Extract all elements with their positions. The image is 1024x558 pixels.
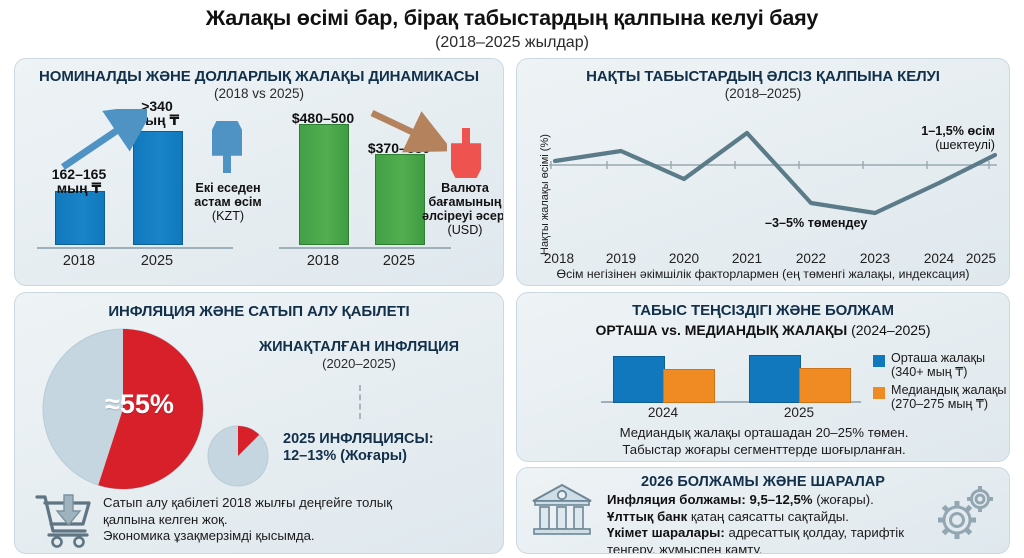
legend-label-median-line2: (270–275 мың ₸) bbox=[891, 397, 988, 411]
bar-median-2024 bbox=[663, 369, 715, 403]
purchasing-power-footnote: Сатып алу қабілеті 2018 жылғы деңгейге т… bbox=[103, 495, 493, 545]
note-kzt-growth: Екі еседен астам өсім (KZT) bbox=[185, 181, 271, 223]
gears-icon bbox=[933, 482, 997, 542]
decline-arrow-diagonal-icon bbox=[367, 107, 447, 153]
cumulative-inflation-period: (2020–2025) bbox=[225, 356, 493, 371]
note-kzt-growth-line2: астам өсім bbox=[194, 195, 262, 209]
legend-label-mean-line2: (340+ мың ₸) bbox=[891, 365, 967, 379]
legend-label-mean: Орташа жалақы (340+ мың ₸) bbox=[891, 351, 1010, 380]
page-subtitle: (2018–2025 жылдар) bbox=[0, 34, 1024, 52]
purchasing-power-footnote-line1: Сатып алу қабілеті 2018 жылғы деңгейге т… bbox=[103, 495, 392, 510]
annotation-limited-growth: 1–1,5% өсім (шектеулі) bbox=[921, 125, 995, 153]
panel-inequality-subtitle: ОРТАША vs. МЕДИАНДЫҚ ЖАЛАҚЫ (2024–2025) bbox=[517, 322, 1009, 338]
legend-swatch-mean bbox=[873, 355, 885, 367]
panel-inequality-subtitle-rest: (2024–2025) bbox=[847, 322, 930, 338]
inflation-2025-text-line2: 12–13% (Жоғары) bbox=[283, 448, 407, 464]
growth-arrow-diagonal-icon bbox=[57, 109, 147, 173]
panel-inflation-purchasing-power: ИНФЛЯЦИЯ ЖӘНЕ САТЫП АЛУ ҚАБІЛЕТІ ≈55% ЖИ… bbox=[14, 292, 504, 554]
nominal-charts-area: 162–165 мың ₸ 2018 >340 мың ₸ 2025 bbox=[15, 59, 503, 285]
kzt-axis-line bbox=[37, 247, 233, 249]
cumulative-inflation-heading: ЖИНАҚТАЛҒАН ИНФЛЯЦИЯ bbox=[225, 339, 493, 355]
inequality-footnote-line2: Табыстар жоғары сегменттерде шоғырланған… bbox=[622, 442, 905, 457]
legend-label-median: Медиандық жалақы (270–275 мың ₸) bbox=[891, 383, 1010, 412]
tick-inequality-2025: 2025 bbox=[771, 405, 827, 420]
note-kzt-growth-line1: Екі еседен bbox=[195, 181, 260, 195]
forecast-line-1: Инфляция болжамы: 9,5–12,5% (жоғары). bbox=[607, 492, 937, 509]
inflation-2025-text-line1: 2025 ИНФЛЯЦИЯСЫ: bbox=[283, 431, 434, 447]
bar-usd-2018-value: $480–500 bbox=[273, 111, 373, 125]
panel-inflation-title: ИНФЛЯЦИЯ ЖӘНЕ САТЫП АЛУ ҚАБІЛЕТІ bbox=[15, 303, 503, 320]
panel-2026-forecast-measures: 2026 БОЛЖАМЫ ЖӘНЕ ШАРАЛАР Инфляция болжа… bbox=[516, 467, 1010, 554]
real-chart-footnote: Өсім негізінен әкімшілік факторлармен (е… bbox=[517, 267, 1009, 281]
note-usd-line4: (USD) bbox=[448, 223, 483, 237]
inflation-2025-text: 2025 ИНФЛЯЦИЯСЫ: 12–13% (Жоғары) bbox=[283, 431, 434, 466]
bar-usd-2025 bbox=[375, 154, 425, 245]
note-usd-line2: бағамының bbox=[428, 195, 501, 209]
forecast-line-4: теңгеру, жұмыспен қамту. bbox=[607, 542, 937, 554]
note-usd-weakening: Валюта бағамының әлсіреуі әсері (USD) bbox=[419, 181, 504, 237]
tick-inequality-2024: 2024 bbox=[635, 405, 691, 420]
note-usd-line1: Валюта bbox=[441, 181, 489, 195]
panel-income-inequality-forecast: ТАБЫС ТЕҢСІЗДІГІ ЖӘНЕ БОЛЖАМ ОРТАША vs. … bbox=[516, 292, 1010, 462]
forecast-line-1-rest: (жоғары). bbox=[813, 492, 874, 507]
tick-real-2021: 2021 bbox=[719, 251, 775, 266]
growth-arrow-up-icon bbox=[212, 121, 242, 177]
tick-real-2019: 2019 bbox=[593, 251, 649, 266]
forecast-line-3-rest: адресаттық қолдау, тарифтік bbox=[725, 525, 904, 540]
bar-usd-2018 bbox=[299, 124, 349, 245]
inequality-footnote-line1: Медиандық жалақы орташадан 20–25% төмен. bbox=[620, 425, 909, 440]
forecast-line-1-strong: Инфляция болжамы: 9,5–12,5% bbox=[607, 492, 813, 507]
legend-label-median-line1: Медиандық жалақы bbox=[891, 383, 1006, 397]
tick-real-2018: 2018 bbox=[531, 251, 587, 266]
panel-real-title: НАҚТЫ ТАБЫСТАРДЫҢ ӘЛСІЗ ҚАЛПЫНА КЕЛУІ bbox=[517, 68, 1009, 85]
bank-building-icon bbox=[531, 482, 593, 540]
purchasing-power-footnote-line2: қалпына келген жоқ. bbox=[103, 512, 228, 527]
panel-real-income-recovery: НАҚТЫ ТАБЫСТАРДЫҢ ӘЛСІЗ ҚАЛПЫНА КЕЛУІ (2… bbox=[516, 58, 1010, 286]
bar-mean-2024 bbox=[613, 356, 665, 403]
bar-median-2025 bbox=[799, 368, 851, 403]
note-usd-line3: әлсіреуі әсері bbox=[422, 209, 504, 223]
infographic-canvas: Жалақы өсімі бар, бірақ табыстардың қалп… bbox=[0, 0, 1024, 558]
usd-axis-line bbox=[279, 247, 451, 249]
inflation-2025-pie-chart bbox=[207, 425, 269, 487]
forecast-body: Инфляция болжамы: 9,5–12,5% (жоғары). Ұл… bbox=[607, 492, 937, 554]
tick-usd-2025: 2025 bbox=[363, 253, 435, 269]
tick-real-2023: 2023 bbox=[847, 251, 903, 266]
annotation-limited-growth-line1: 1–1,5% өсім bbox=[921, 124, 995, 138]
purchasing-power-footnote-line3: Экономика ұзақмерзімді қысымда. bbox=[103, 528, 315, 543]
bar-mean-2025 bbox=[749, 355, 801, 403]
annotation-limited-growth-line2: (шектеулі) bbox=[935, 138, 995, 152]
tick-real-2020: 2020 bbox=[656, 251, 712, 266]
tick-usd-2018: 2018 bbox=[287, 253, 359, 269]
bar-kzt-2018-value-line2: мың ₸ bbox=[57, 180, 101, 196]
tick-real-2022: 2022 bbox=[783, 251, 839, 266]
pie-label-cumulative: ≈55% bbox=[105, 389, 174, 420]
shopping-cart-down-icon bbox=[33, 491, 95, 549]
inequality-footnote: Медиандық жалақы орташадан 20–25% төмен.… bbox=[517, 425, 1010, 458]
panels-grid: НОМИНАЛДЫ ЖӘНЕ ДОЛЛАРЛЫҚ ЖАЛАҚЫ ДИНАМИКА… bbox=[0, 58, 1024, 558]
forecast-line-2-strong: Ұлттық банк bbox=[607, 509, 687, 524]
currency-down-arrow-icon bbox=[451, 124, 481, 178]
tick-kzt-2025: 2025 bbox=[121, 253, 193, 269]
cumulative-inflation-block: ЖИНАҚТАЛҒАН ИНФЛЯЦИЯ (2020–2025) bbox=[225, 339, 493, 371]
legend-swatch-median bbox=[873, 387, 885, 399]
connector-dashed-line bbox=[359, 385, 361, 419]
forecast-line-2-rest: қатаң саясатты сақтайды. bbox=[687, 509, 849, 524]
panel-inequality-title: ТАБЫС ТЕҢСІЗДІГІ ЖӘНЕ БОЛЖАМ bbox=[517, 302, 1009, 319]
panel-nominal-wage-dynamics: НОМИНАЛДЫ ЖӘНЕ ДОЛЛАРЛЫҚ ЖАЛАҚЫ ДИНАМИКА… bbox=[14, 58, 504, 286]
annotation-decline: –3–5% төмендеу bbox=[765, 217, 867, 231]
page-title: Жалақы өсімі бар, бірақ табыстардың қалп… bbox=[0, 6, 1024, 31]
legend-label-mean-line1: Орташа жалақы bbox=[891, 351, 985, 365]
note-kzt-growth-line3: (KZT) bbox=[212, 209, 244, 223]
forecast-line-3-strong: Үкімет шаралары: bbox=[607, 525, 725, 540]
panel-inequality-subtitle-strong: ОРТАША vs. МЕДИАНДЫҚ ЖАЛАҚЫ bbox=[595, 322, 847, 338]
page-header: Жалақы өсімі бар, бірақ табыстардың қалп… bbox=[0, 0, 1024, 52]
bar-kzt-2018 bbox=[55, 191, 105, 245]
tick-kzt-2018: 2018 bbox=[43, 253, 115, 269]
forecast-line-2: Ұлттық банк қатаң саясатты сақтайды. bbox=[607, 509, 937, 526]
tick-real-2025: 2025 bbox=[953, 251, 1009, 266]
forecast-line-3: Үкімет шаралары: адресаттық қолдау, тари… bbox=[607, 525, 937, 542]
panel-real-subtitle: (2018–2025) bbox=[517, 86, 1009, 101]
